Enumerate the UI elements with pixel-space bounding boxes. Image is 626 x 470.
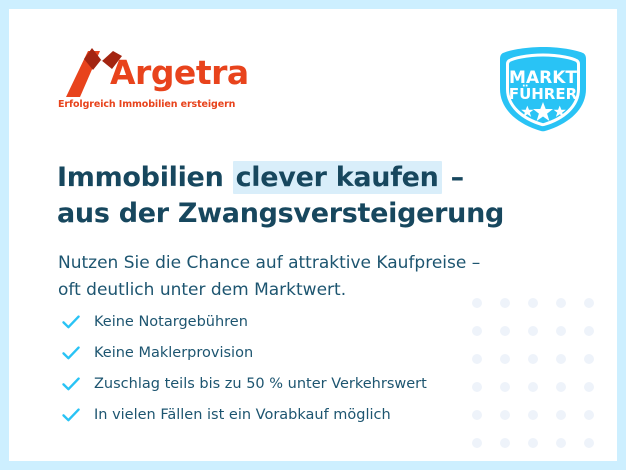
ad-card: Argetra Erfolgreich Immobilien ersteiger… (9, 9, 617, 461)
benefit-list: Keine NotargebührenKeine Maklerprovision… (61, 306, 581, 430)
decorative-dot (584, 298, 594, 308)
list-item-label: Keine Maklerprovision (94, 345, 253, 361)
headline-line-1: Immobilien clever kaufen – (57, 160, 577, 196)
decorative-dot (584, 326, 594, 336)
decorative-dot (584, 410, 594, 420)
decorative-dot (584, 354, 594, 364)
check-icon (61, 405, 81, 425)
list-item: Keine Notargebühren (61, 306, 581, 337)
logo-tagline: Erfolgreich Immobilien ersteigern (58, 99, 235, 110)
list-item: Zuschlag teils bis zu 50 % unter Verkehr… (61, 368, 581, 399)
decorative-dot (556, 438, 566, 448)
headline-text-pre: Immobilien (57, 162, 233, 193)
headline-highlight: clever kaufen (233, 161, 442, 194)
list-item: Keine Maklerprovision (61, 337, 581, 368)
page-title: Immobilien clever kaufen – aus der Zwang… (57, 160, 577, 232)
market-leader-badge: MARKT FÜHRER (497, 45, 589, 133)
decorative-dot (528, 438, 538, 448)
check-icon (61, 374, 81, 394)
brand-logo[interactable]: Argetra Erfolgreich Immobilien ersteiger… (54, 47, 304, 99)
ad-frame: Argetra Erfolgreich Immobilien ersteiger… (0, 0, 626, 470)
decorative-dot (472, 438, 482, 448)
decorative-dot (584, 382, 594, 392)
check-icon (61, 312, 81, 332)
logo-row: Argetra (54, 47, 304, 99)
badge-line-2: FÜHRER (509, 84, 578, 103)
subheading-line-1: Nutzen Sie die Chance auf attraktive Kau… (58, 250, 578, 277)
list-item-label: Keine Notargebühren (94, 314, 248, 330)
subheading-line-2: oft deutlich unter dem Marktwert. (58, 277, 578, 304)
logo-wordmark: Argetra (110, 56, 249, 89)
headline-line-2: aus der Zwangsversteigerung (57, 196, 577, 232)
list-item: In vielen Fällen ist ein Vorabkauf mögli… (61, 399, 581, 430)
check-icon (61, 343, 81, 363)
decorative-dot (500, 438, 510, 448)
list-item-label: Zuschlag teils bis zu 50 % unter Verkehr… (94, 376, 427, 392)
subheading: Nutzen Sie die Chance auf attraktive Kau… (58, 250, 578, 304)
list-item-label: In vielen Fällen ist ein Vorabkauf mögli… (94, 407, 391, 423)
headline-text-post: – (442, 162, 464, 193)
decorative-dot (584, 438, 594, 448)
